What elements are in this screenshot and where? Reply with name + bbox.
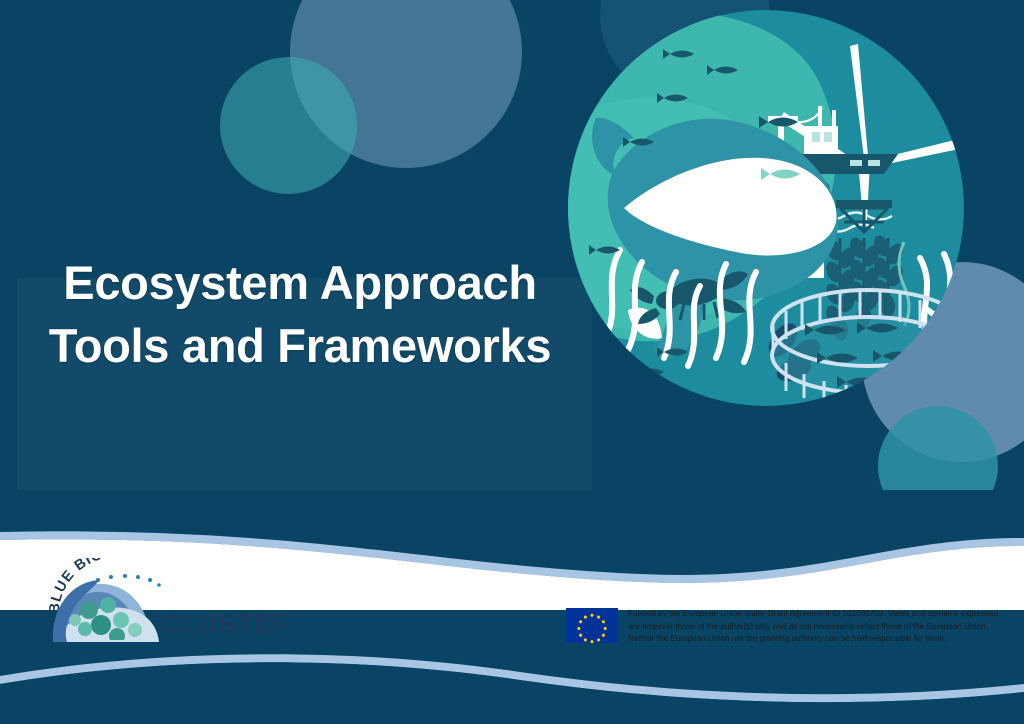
slide-hero-area: Ecosystem Approach Tools and Frameworks [0, 0, 1024, 560]
title-slide: Ecosystem Approach Tools and Frameworks … [0, 0, 1024, 724]
logo-wordmark: CLUSTERS [161, 609, 285, 639]
page-title: Ecosystem Approach Tools and Frameworks [0, 252, 600, 377]
eu-funding-disclaimer: Funded by the European Union under Grant… [628, 608, 998, 646]
eu-funding-block: Funded by the European Union under Grant… [566, 608, 998, 646]
disclaimer-line-2: are however those of the author(s) only … [628, 621, 998, 634]
title-line-2: Tools and Frameworks [0, 315, 600, 378]
blue-bio-clusters-logo[interactable]: BLUE BIO [45, 558, 285, 648]
blue-economy-illustration [568, 10, 964, 406]
disclaimer-line-1: Funded by the European Union under Grant… [628, 608, 998, 621]
wave-divider-bottom [0, 640, 1024, 724]
european-union-flag [566, 608, 618, 643]
disclaimer-line-3: Neither the European Union nor the grant… [628, 633, 998, 646]
title-line-1: Ecosystem Approach [0, 252, 600, 315]
decorative-circle-small-teal [220, 57, 357, 194]
